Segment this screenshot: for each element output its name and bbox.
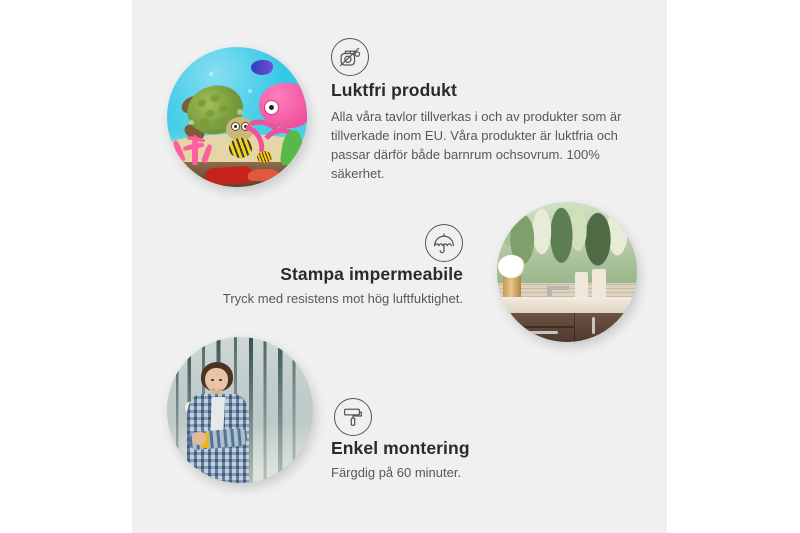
feature-text-easy-install: Enkel montering Färgdig på 60 minuter. [331, 438, 611, 482]
feature-image-bathroom-botanical-wallpaper [497, 202, 637, 342]
faucet [547, 286, 569, 290]
no-fragrance-icon [331, 38, 369, 76]
person-eye [211, 379, 214, 381]
feature-image-underwater-kids-scene [167, 47, 307, 187]
turtle-shell-spot [205, 109, 215, 118]
feature-description: Alla våra tavlor tillverkas i och av pro… [331, 107, 631, 183]
white-flower [498, 255, 525, 277]
door-handle [592, 317, 595, 333]
feature-description: Tryck med resistens mot hög luftfuktighe… [203, 289, 463, 308]
vanity-seam [574, 313, 576, 342]
vanity-seam [505, 326, 573, 328]
feature-title: Stampa impermeabile [203, 264, 463, 285]
seabed-object [248, 169, 279, 182]
coral-branch [173, 140, 186, 162]
coral [173, 123, 221, 165]
wood-vanity [505, 313, 637, 342]
drawer-handle [524, 331, 558, 334]
paint-roller-icon [334, 398, 372, 436]
feature-description: Färgdig på 60 minuter. [331, 463, 611, 482]
soap-bottle [575, 272, 588, 300]
person-hand [193, 432, 206, 445]
umbrella-icon [425, 224, 463, 262]
small-fish [257, 151, 272, 164]
feature-text-waterproof: Stampa impermeabile Tryck med resistens … [203, 264, 463, 308]
feature-image-woman-painter-forest-wallpaper [167, 337, 313, 483]
feature-text-odourless: Luktfri produkt Alla våra tavlor tillver… [331, 80, 631, 183]
turtle-shell-spot [218, 104, 228, 113]
person-eye [219, 379, 222, 381]
bubble [237, 109, 243, 115]
turtle-shell-spot [209, 94, 219, 103]
feature-title: Enkel montering [331, 438, 611, 459]
countertop [497, 297, 637, 314]
feature-title: Luktfri produkt [331, 80, 631, 101]
promo-panel: Luktfri produkt Alla våra tavlor tillver… [0, 0, 800, 533]
yellow-striped-fish [229, 138, 253, 158]
turtle-shell-spot [197, 99, 207, 108]
